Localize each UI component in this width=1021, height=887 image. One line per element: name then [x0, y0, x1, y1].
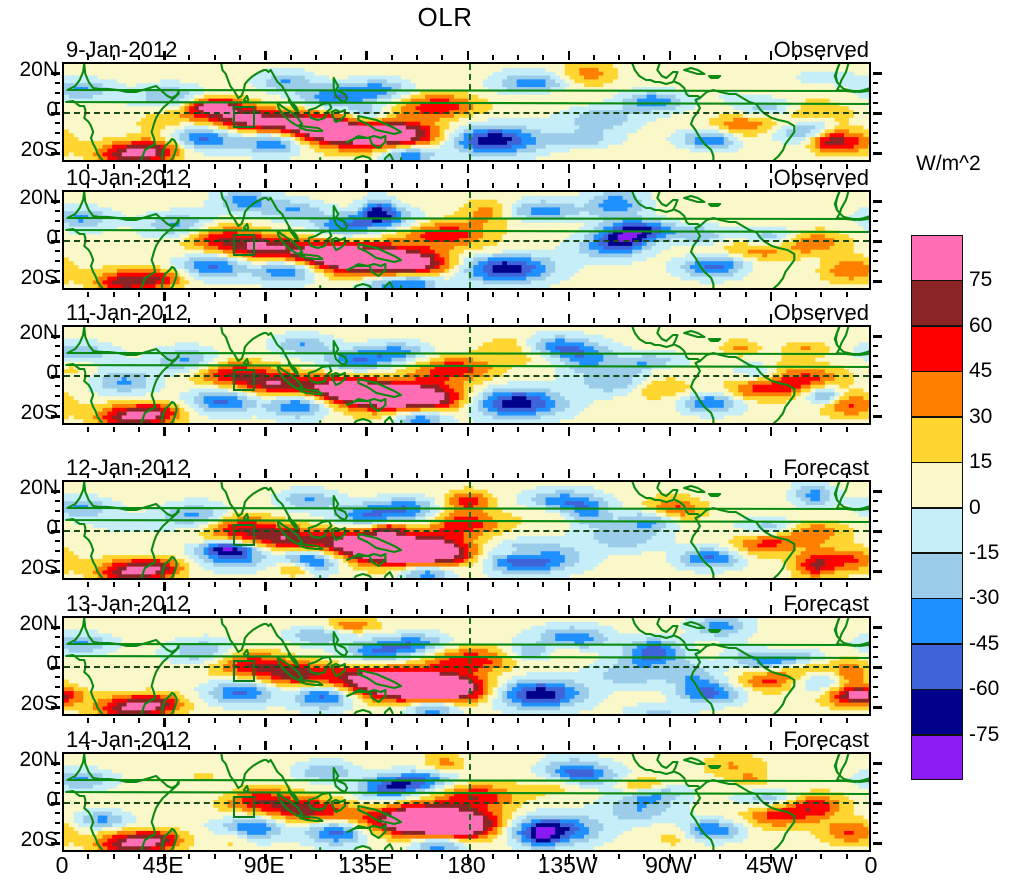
x-major-tick — [770, 314, 773, 323]
y-major-tick — [873, 570, 882, 573]
x-minor-tick — [517, 55, 519, 60]
y-minor-tick — [873, 92, 878, 94]
y-axis-label-20n: 20N — [0, 58, 58, 82]
panel-date-label: 10-Jan-2012 — [66, 165, 190, 191]
y-major-tick — [873, 842, 882, 845]
x-major-tick — [365, 427, 368, 436]
x-minor-tick — [618, 609, 620, 614]
x-major-tick — [365, 718, 368, 727]
x-major-tick — [568, 718, 571, 727]
x-minor-tick — [618, 718, 620, 723]
x-minor-tick — [643, 183, 645, 188]
x-minor-tick — [719, 582, 721, 587]
x-minor-tick — [694, 427, 696, 432]
x-major-tick — [669, 292, 672, 301]
x-major-tick — [669, 427, 672, 436]
x-major-tick — [467, 292, 470, 301]
x-axis-labels: 045E90E135E180135W90W45W0 — [62, 852, 871, 886]
x-minor-tick — [239, 164, 241, 169]
x-minor-tick — [214, 55, 216, 60]
x-major-tick — [467, 718, 470, 727]
y-minor-tick — [873, 270, 878, 272]
colorbar-tick-label-5: 0 — [969, 496, 981, 520]
x-minor-tick — [239, 427, 241, 432]
y-axis-label-20s: 20S — [0, 401, 58, 425]
x-minor-tick — [643, 582, 645, 587]
x-major-tick — [264, 427, 267, 436]
x-major-tick — [163, 582, 166, 591]
x-minor-tick — [340, 473, 342, 478]
x-minor-tick — [517, 318, 519, 323]
x-minor-tick — [593, 473, 595, 478]
colorbar[interactable]: 75604530150-15-30-45-60-75 — [911, 235, 963, 780]
y-minor-tick — [55, 646, 60, 648]
x-minor-tick — [694, 292, 696, 297]
y-major-tick — [873, 666, 882, 669]
x-minor-tick — [820, 582, 822, 587]
y-major-tick — [873, 240, 882, 243]
x-minor-tick — [719, 609, 721, 614]
colorbar-tick-label-7: -30 — [969, 586, 999, 610]
y-axis-label-20s: 20S — [0, 556, 58, 580]
x-minor-tick — [391, 745, 393, 750]
x-minor-tick — [416, 292, 418, 297]
x-minor-tick — [416, 164, 418, 169]
x-minor-tick — [618, 55, 620, 60]
dateline-marker — [469, 64, 471, 160]
dateline-marker — [469, 618, 471, 714]
colorbar-band-0[interactable] — [911, 235, 963, 281]
x-major-tick — [770, 582, 773, 591]
panel-kind-label: Forecast — [783, 591, 869, 617]
x-minor-tick — [441, 718, 443, 723]
y-minor-tick — [55, 772, 60, 774]
x-minor-tick — [239, 55, 241, 60]
y-minor-tick — [873, 550, 878, 552]
colorbar-band-1[interactable] — [911, 280, 963, 326]
x-minor-tick — [719, 55, 721, 60]
x-minor-tick — [239, 745, 241, 750]
colorbar-band-7[interactable] — [911, 553, 963, 599]
x-major-tick — [365, 314, 368, 323]
x-minor-tick — [315, 473, 317, 478]
x-minor-tick — [340, 318, 342, 323]
y-minor-tick — [55, 822, 60, 824]
panel-date-label: 13-Jan-2012 — [66, 591, 190, 617]
x-minor-tick — [593, 318, 595, 323]
x-minor-tick — [441, 427, 443, 432]
x-minor-tick — [290, 318, 292, 323]
y-minor-tick — [873, 812, 878, 814]
colorbar-band-9[interactable] — [911, 644, 963, 690]
x-minor-tick — [188, 718, 190, 723]
x-minor-tick — [239, 473, 241, 478]
colorbar-tick-label-10: -75 — [969, 723, 999, 747]
y-minor-tick — [873, 260, 878, 262]
x-minor-tick — [643, 609, 645, 614]
x-minor-tick — [745, 55, 747, 60]
colorbar-tick-label-2: 45 — [969, 359, 992, 383]
y-axis-label-20n: 20N — [0, 748, 58, 772]
x-major-tick — [264, 582, 267, 591]
x-minor-tick — [492, 318, 494, 323]
y-minor-tick — [873, 142, 878, 144]
colorbar-band-2[interactable] — [911, 326, 963, 372]
y-minor-tick — [873, 656, 878, 658]
y-minor-tick — [55, 395, 60, 397]
colorbar-band-4[interactable] — [911, 417, 963, 463]
dateline-marker — [469, 327, 471, 423]
y-minor-tick — [873, 520, 878, 522]
x-minor-tick — [315, 318, 317, 323]
x-major-tick — [568, 605, 571, 614]
x-minor-tick — [315, 718, 317, 723]
x-major-tick — [264, 741, 267, 750]
y-minor-tick — [55, 500, 60, 502]
x-minor-tick — [315, 582, 317, 587]
x-minor-tick — [694, 609, 696, 614]
y-axis-label-0: 0 — [0, 652, 58, 676]
x-minor-tick — [618, 745, 620, 750]
x-minor-tick — [290, 718, 292, 723]
y-minor-tick — [55, 510, 60, 512]
x-major-tick — [467, 164, 470, 173]
x-minor-tick — [618, 582, 620, 587]
x-major-tick — [467, 582, 470, 591]
x-minor-tick — [517, 609, 519, 614]
map-panel-3[interactable]: 20N020S11-Jan-2012Observed — [62, 325, 871, 425]
x-minor-tick — [416, 183, 418, 188]
x-minor-tick — [138, 427, 140, 432]
x-major-tick — [568, 469, 571, 478]
x-minor-tick — [340, 745, 342, 750]
x-major-tick — [770, 292, 773, 301]
x-minor-tick — [239, 183, 241, 188]
y-minor-tick — [873, 250, 878, 252]
x-minor-tick — [290, 609, 292, 614]
x-minor-tick — [694, 473, 696, 478]
x-minor-tick — [391, 718, 393, 723]
x-minor-tick — [542, 718, 544, 723]
y-major-tick — [873, 802, 882, 805]
y-minor-tick — [873, 540, 878, 542]
x-minor-tick — [113, 582, 115, 587]
x-minor-tick — [340, 183, 342, 188]
map-panel-1[interactable]: 20N020S9-Jan-2012Observed — [62, 62, 871, 162]
y-minor-tick — [873, 646, 878, 648]
map-panel-4[interactable]: 20N020S12-Jan-2012Forecast — [62, 480, 871, 580]
y-minor-tick — [55, 355, 60, 357]
y-minor-tick — [55, 132, 60, 134]
y-minor-tick — [873, 220, 878, 222]
y-major-tick — [873, 762, 882, 765]
x-minor-tick — [441, 473, 443, 478]
x-major-tick — [264, 51, 267, 60]
panel-date-label: 12-Jan-2012 — [66, 455, 190, 481]
colorbar-tick-label-8: -45 — [969, 632, 999, 656]
x-minor-tick — [87, 582, 89, 587]
x-minor-tick — [492, 582, 494, 587]
x-minor-tick — [719, 473, 721, 478]
y-minor-tick — [873, 82, 878, 84]
x-minor-tick — [820, 427, 822, 432]
y-major-tick — [873, 335, 882, 338]
y-major-tick — [873, 152, 882, 155]
panel-plot-area[interactable] — [62, 62, 871, 162]
x-axis-label-0-8: 0 — [865, 852, 878, 879]
panel-plot-area[interactable] — [62, 480, 871, 580]
x-minor-tick — [340, 427, 342, 432]
x-minor-tick — [188, 427, 190, 432]
y-major-tick — [873, 112, 882, 115]
index-region-box-marker — [233, 369, 255, 391]
x-minor-tick — [492, 55, 494, 60]
y-major-tick — [873, 626, 882, 629]
x-minor-tick — [542, 745, 544, 750]
x-minor-tick — [340, 582, 342, 587]
y-minor-tick — [55, 540, 60, 542]
x-minor-tick — [441, 745, 443, 750]
x-minor-tick — [745, 745, 747, 750]
x-major-tick — [770, 718, 773, 727]
x-minor-tick — [618, 318, 620, 323]
panel-plot-area[interactable] — [62, 616, 871, 716]
x-minor-tick — [441, 183, 443, 188]
x-minor-tick — [643, 292, 645, 297]
x-major-tick — [669, 741, 672, 750]
x-minor-tick — [492, 718, 494, 723]
y-major-tick — [873, 280, 882, 283]
x-major-tick — [770, 179, 773, 188]
x-minor-tick — [416, 427, 418, 432]
index-region-box-marker — [233, 660, 255, 682]
y-minor-tick — [55, 812, 60, 814]
y-minor-tick — [873, 365, 878, 367]
x-minor-tick — [820, 718, 822, 723]
x-minor-tick — [113, 427, 115, 432]
x-minor-tick — [441, 292, 443, 297]
x-minor-tick — [214, 473, 216, 478]
y-minor-tick — [873, 676, 878, 678]
index-region-box-marker — [233, 796, 255, 818]
colorbar-band-11[interactable] — [911, 735, 963, 781]
x-minor-tick — [492, 427, 494, 432]
x-minor-tick — [87, 427, 89, 432]
x-minor-tick — [188, 582, 190, 587]
y-axis-label-20s: 20S — [0, 692, 58, 716]
x-axis-label-180-4: 180 — [447, 852, 485, 879]
x-minor-tick — [542, 427, 544, 432]
x-minor-tick — [517, 718, 519, 723]
x-minor-tick — [719, 427, 721, 432]
x-minor-tick — [113, 292, 115, 297]
x-minor-tick — [795, 582, 797, 587]
x-major-tick — [264, 179, 267, 188]
x-major-tick — [365, 582, 368, 591]
x-axis-label-90e-2: 90E — [244, 852, 285, 879]
panel-date-label: 9-Jan-2012 — [66, 37, 177, 63]
x-minor-tick — [542, 582, 544, 587]
x-major-tick — [264, 469, 267, 478]
x-major-tick — [669, 164, 672, 173]
x-minor-tick — [416, 745, 418, 750]
x-major-tick — [770, 741, 773, 750]
x-major-tick — [669, 718, 672, 727]
y-axis-label-20s: 20S — [0, 828, 58, 852]
x-minor-tick — [315, 745, 317, 750]
x-minor-tick — [391, 292, 393, 297]
x-minor-tick — [441, 55, 443, 60]
x-minor-tick — [517, 164, 519, 169]
x-major-tick — [568, 51, 571, 60]
panel-kind-label: Forecast — [783, 455, 869, 481]
x-minor-tick — [618, 164, 620, 169]
x-major-tick — [568, 179, 571, 188]
x-major-tick — [264, 164, 267, 173]
x-minor-tick — [391, 55, 393, 60]
panel-plot-area[interactable] — [62, 190, 871, 290]
map-panel-6[interactable]: 20N020S14-Jan-2012Forecast — [62, 752, 871, 852]
x-minor-tick — [239, 718, 241, 723]
x-minor-tick — [416, 609, 418, 614]
colorbar-tick-label-6: -15 — [969, 541, 999, 565]
x-minor-tick — [820, 292, 822, 297]
x-minor-tick — [719, 745, 721, 750]
x-major-tick — [163, 718, 166, 727]
x-minor-tick — [492, 183, 494, 188]
index-region-box-marker — [233, 106, 255, 128]
y-minor-tick — [873, 500, 878, 502]
x-major-tick — [163, 427, 166, 436]
x-axis-label-45e-1: 45E — [143, 852, 184, 879]
x-minor-tick — [391, 582, 393, 587]
y-minor-tick — [873, 395, 878, 397]
x-minor-tick — [593, 427, 595, 432]
colorbar-unit-label: W/m^2 — [916, 152, 981, 176]
x-minor-tick — [643, 718, 645, 723]
y-minor-tick — [55, 345, 60, 347]
y-axis-label-20n: 20N — [0, 321, 58, 345]
y-minor-tick — [873, 230, 878, 232]
colorbar-band-5[interactable] — [911, 462, 963, 508]
x-major-tick — [669, 582, 672, 591]
x-minor-tick — [593, 55, 595, 60]
y-minor-tick — [873, 345, 878, 347]
x-minor-tick — [87, 292, 89, 297]
x-minor-tick — [492, 745, 494, 750]
y-minor-tick — [873, 636, 878, 638]
panel-date-label: 11-Jan-2012 — [66, 300, 188, 326]
y-minor-tick — [55, 92, 60, 94]
x-minor-tick — [340, 55, 342, 60]
x-minor-tick — [846, 582, 848, 587]
x-minor-tick — [239, 318, 241, 323]
x-minor-tick — [745, 582, 747, 587]
x-major-tick — [264, 292, 267, 301]
x-minor-tick — [694, 183, 696, 188]
equator-line — [64, 530, 869, 532]
y-axis-label-0: 0 — [0, 788, 58, 812]
x-minor-tick — [416, 718, 418, 723]
colorbar-tick-label-9: -60 — [969, 677, 999, 701]
y-minor-tick — [873, 792, 878, 794]
x-minor-tick — [391, 473, 393, 478]
x-minor-tick — [441, 582, 443, 587]
x-major-tick — [770, 605, 773, 614]
x-axis-label-90w-6: 90W — [645, 852, 692, 879]
x-minor-tick — [315, 164, 317, 169]
y-minor-tick — [873, 560, 878, 562]
x-minor-tick — [745, 609, 747, 614]
x-minor-tick — [719, 164, 721, 169]
x-minor-tick — [745, 292, 747, 297]
equator-line — [64, 112, 869, 114]
x-minor-tick — [290, 183, 292, 188]
x-minor-tick — [290, 745, 292, 750]
y-minor-tick — [873, 782, 878, 784]
y-minor-tick — [55, 676, 60, 678]
x-minor-tick — [214, 745, 216, 750]
x-minor-tick — [214, 183, 216, 188]
x-minor-tick — [290, 473, 292, 478]
x-minor-tick — [542, 609, 544, 614]
x-minor-tick — [745, 318, 747, 323]
x-major-tick — [467, 314, 470, 323]
x-minor-tick — [542, 292, 544, 297]
colorbar-tick-label-1: 60 — [969, 314, 992, 338]
y-minor-tick — [873, 510, 878, 512]
x-minor-tick — [593, 164, 595, 169]
x-minor-tick — [593, 745, 595, 750]
colorbar-band-3[interactable] — [911, 371, 963, 417]
x-minor-tick — [416, 318, 418, 323]
x-minor-tick — [694, 718, 696, 723]
x-major-tick — [770, 164, 773, 173]
x-minor-tick — [846, 292, 848, 297]
index-region-box-marker — [233, 234, 255, 256]
x-major-tick — [770, 427, 773, 436]
panel-date-label: 14-Jan-2012 — [66, 727, 190, 753]
y-minor-tick — [873, 132, 878, 134]
x-minor-tick — [593, 292, 595, 297]
x-major-tick — [264, 605, 267, 614]
x-major-tick — [264, 718, 267, 727]
y-major-tick — [873, 72, 882, 75]
panel-plot-area[interactable] — [62, 325, 871, 425]
x-minor-tick — [416, 55, 418, 60]
x-minor-tick — [492, 473, 494, 478]
x-minor-tick — [694, 582, 696, 587]
x-major-tick — [669, 469, 672, 478]
colorbar-band-6[interactable] — [911, 508, 963, 554]
map-panel-2[interactable]: 20N020S10-Jan-2012Observed — [62, 190, 871, 290]
map-panel-5[interactable]: 20N020S13-Jan-2012Forecast — [62, 616, 871, 716]
x-major-tick — [365, 605, 368, 614]
y-minor-tick — [873, 405, 878, 407]
y-minor-tick — [55, 782, 60, 784]
y-minor-tick — [55, 550, 60, 552]
x-minor-tick — [214, 318, 216, 323]
x-minor-tick — [492, 292, 494, 297]
colorbar-band-10[interactable] — [911, 689, 963, 735]
x-minor-tick — [290, 427, 292, 432]
x-minor-tick — [542, 164, 544, 169]
colorbar-band-8[interactable] — [911, 598, 963, 644]
x-minor-tick — [391, 164, 393, 169]
x-minor-tick — [188, 55, 190, 60]
x-minor-tick — [745, 183, 747, 188]
panel-plot-area[interactable] — [62, 752, 871, 852]
